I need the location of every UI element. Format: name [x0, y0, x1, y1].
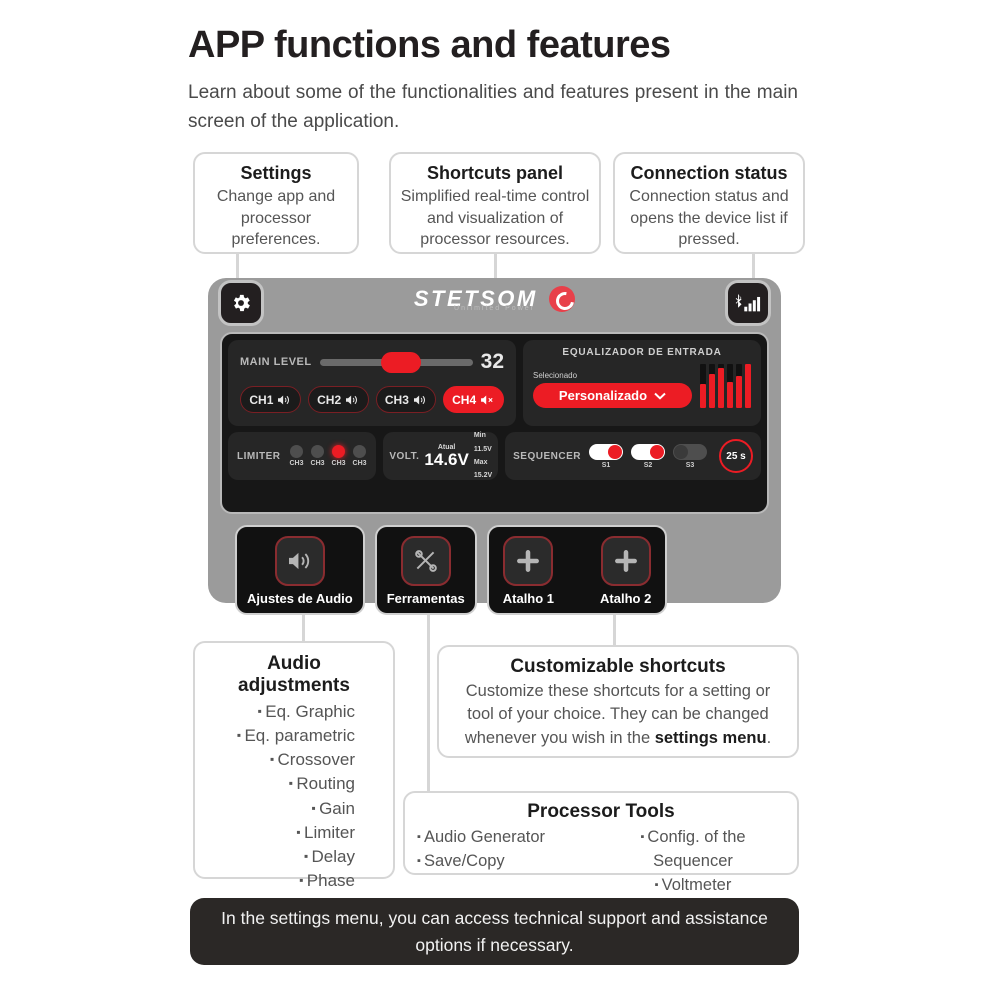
toggle-knob	[674, 445, 688, 459]
bluetooth-signal-icon	[735, 292, 761, 314]
list-item: Limiter	[209, 821, 379, 845]
callout-processor-tools: Processor Tools Audio Generator Save/Cop…	[403, 791, 799, 875]
audio-adjustments-list: Eq. Graphic Eq. parametric Crossover Rou…	[209, 700, 379, 893]
list-item: Routing	[209, 772, 379, 796]
limiter-led-label: CH3	[332, 460, 346, 467]
led-indicator	[353, 445, 366, 458]
sequencer-switch-label: S3	[673, 462, 707, 469]
speaker-icon	[287, 550, 313, 572]
list-item: Eq. Graphic	[209, 700, 379, 724]
callout-shortcuts-title: Shortcuts panel	[397, 163, 593, 184]
limiter-led-label: CH3	[353, 460, 367, 467]
equalizer-preset-dropdown[interactable]: Personalizado	[533, 383, 692, 408]
equalizer-bars	[700, 364, 751, 408]
list-item: Phase	[209, 869, 379, 893]
main-level-value: 32	[481, 350, 504, 374]
callout-custom-title: Customizable shortcuts	[455, 656, 781, 678]
list-item: Voltmeter	[601, 874, 785, 898]
plus-icon-wrap	[601, 536, 651, 586]
callout-audio-adjustments: Audio adjustments Eq. Graphic Eq. parame…	[193, 641, 395, 879]
toggle-switch[interactable]	[631, 444, 665, 460]
channel-label-ch4: CH4	[452, 393, 476, 407]
equalizer-selected-label: Selecionado	[533, 371, 692, 380]
infographic-page: APP functions and features Learn about s…	[0, 0, 1000, 1000]
list-item: Audio Generator	[417, 826, 601, 850]
sequencer-switch-label: S1	[589, 462, 623, 469]
button-ferramentas[interactable]: Ferramentas	[387, 536, 465, 606]
channel-button-ch2[interactable]: CH2	[308, 386, 369, 413]
limiter-tile: LIMITER CH3 CH3 CH3	[228, 432, 376, 480]
channel-button-ch3[interactable]: CH3	[376, 386, 437, 413]
footer-text: In the settings menu, you can access tec…	[218, 905, 771, 958]
callout-settings-title: Settings	[201, 163, 351, 184]
list-item: Delay	[209, 845, 379, 869]
list-item: Save/Copy	[417, 850, 601, 874]
sequencer-timer[interactable]: 25 s	[719, 439, 753, 473]
list-item: Crossover	[209, 748, 379, 772]
callout-shortcuts-body: Simplified real-time control and visuali…	[397, 186, 593, 251]
limiter-led-label: CH3	[311, 460, 325, 467]
toggle-switch[interactable]	[589, 444, 623, 460]
sequencer-tile: SEQUENCER S1 S2 S3 25 s	[505, 432, 761, 480]
custom-body-bold: settings menu	[655, 729, 767, 747]
eq-bar	[727, 364, 733, 408]
button-label: Atalho 1	[503, 591, 554, 606]
list-item: Config. of the Sequencer	[601, 826, 785, 874]
brand-logo: STETSOM	[208, 286, 781, 322]
page-subtitle: Learn about some of the functionalities …	[188, 78, 798, 137]
eq-bar	[700, 364, 706, 408]
eq-bar	[709, 364, 715, 408]
toggle-switch[interactable]	[673, 444, 707, 460]
connector-line-processor-tools	[427, 603, 430, 793]
sequencer-switch-s3[interactable]: S3	[673, 444, 707, 469]
button-label: Atalho 2	[600, 591, 651, 606]
voltage-label: VOLT.	[389, 451, 419, 462]
limiter-led-1: CH3	[290, 445, 304, 467]
input-equalizer-tile: EQUALIZADOR DE ENTRADA Selecionado Perso…	[523, 340, 761, 426]
channel-label-ch2: CH2	[317, 393, 341, 407]
audio-settings-box: Ajustes de Audio	[235, 525, 365, 615]
led-indicator	[311, 445, 324, 458]
callout-settings: Settings Change app and processor prefer…	[193, 152, 359, 254]
channel-label-ch3: CH3	[385, 393, 409, 407]
plus-icon	[613, 548, 639, 574]
callout-connection-title: Connection status	[621, 163, 797, 184]
plus-icon-wrap	[503, 536, 553, 586]
screen-row-bottom: LIMITER CH3 CH3 CH3	[228, 432, 761, 480]
custom-shortcuts-box: Atalho 1 Atalho 2	[487, 525, 668, 615]
equalizer-preset-value: Personalizado	[559, 388, 647, 403]
voltage-current-value: 14.6V	[424, 451, 468, 468]
channel-button-row: CH1 CH2	[240, 386, 504, 413]
callout-tools-title: Processor Tools	[417, 801, 785, 823]
speaker-on-icon	[277, 394, 291, 406]
callout-connection-body: Connection status and opens the device l…	[621, 186, 797, 251]
button-label: Ferramentas	[387, 591, 465, 606]
callout-customizable-shortcuts: Customizable shortcuts Customize these s…	[437, 645, 799, 758]
sequencer-switch-s1[interactable]: S1	[589, 444, 623, 469]
button-atalho-1[interactable]: Atalho 1	[503, 536, 554, 606]
connection-status-button[interactable]	[725, 280, 771, 326]
speaker-mute-icon	[480, 394, 495, 406]
callout-connection-status: Connection status Connection status and …	[613, 152, 805, 254]
speaker-on-icon	[413, 394, 427, 406]
sequencer-label: SEQUENCER	[513, 451, 581, 462]
processor-tools-column-2: Config. of the Sequencer Voltmeter	[601, 826, 785, 898]
button-atalho-2[interactable]: Atalho 2	[600, 536, 651, 606]
button-label: Ajustes de Audio	[247, 591, 353, 606]
custom-body-part2: .	[767, 729, 772, 747]
callout-shortcuts-panel: Shortcuts panel Simplified real-time con…	[389, 152, 601, 254]
voltage-min: Min 11.5V	[474, 429, 492, 456]
main-level-slider-knob[interactable]	[381, 352, 421, 373]
eq-bar	[745, 364, 751, 408]
speaker-on-icon	[345, 394, 359, 406]
limiter-led-label: CH3	[290, 460, 304, 467]
screen-row-top: MAIN LEVEL 32 CH1	[228, 340, 761, 426]
speaker-icon-wrap	[275, 536, 325, 586]
sequencer-switch-s2[interactable]: S2	[631, 444, 665, 469]
channel-button-ch1[interactable]: CH1	[240, 386, 301, 413]
led-indicator	[332, 445, 345, 458]
limiter-led-3: CH3	[332, 445, 346, 467]
tools-icon-wrap	[401, 536, 451, 586]
limiter-led-4: CH3	[353, 445, 367, 467]
connector-line-connection	[752, 254, 755, 280]
list-item: Gain	[209, 797, 379, 821]
voltage-max: Max 15.2V	[474, 456, 492, 483]
main-level-slider[interactable]	[320, 359, 473, 366]
main-level-label: MAIN LEVEL	[240, 356, 312, 368]
main-level-tile: MAIN LEVEL 32 CH1	[228, 340, 516, 426]
callout-custom-body: Customize these shortcuts for a setting …	[455, 680, 781, 750]
page-title: APP functions and features	[188, 24, 671, 67]
channel-label-ch1: CH1	[249, 393, 273, 407]
limiter-label: LIMITER	[237, 451, 281, 462]
voltage-tile: VOLT. Atual 14.6V Min 11.5V Max 15.2V	[383, 432, 498, 480]
brand-tagline: Unlimited Power	[208, 305, 781, 312]
device-header: STETSOM Unlimited Power	[208, 278, 781, 328]
eq-bar	[736, 364, 742, 408]
toggle-knob	[608, 445, 622, 459]
tools-icon	[413, 548, 439, 574]
button-ajustes-de-audio[interactable]: Ajustes de Audio	[247, 536, 353, 606]
list-item: Eq. parametric	[209, 724, 379, 748]
processor-tools-grid: Audio Generator Save/Copy Config. of the…	[417, 826, 785, 898]
callout-audio-title: Audio adjustments	[209, 653, 379, 697]
callout-settings-body: Change app and processor preferences.	[201, 186, 351, 251]
footer-note: In the settings menu, you can access tec…	[190, 898, 799, 965]
chevron-down-icon	[654, 392, 666, 400]
equalizer-title: EQUALIZADOR DE ENTRADA	[533, 347, 751, 358]
toggle-knob	[650, 445, 664, 459]
tools-box: Ferramentas	[375, 525, 477, 615]
sequencer-switch-label: S2	[631, 462, 665, 469]
device-app-panel: STETSOM Unlimited Power MA	[208, 278, 781, 603]
channel-button-ch4[interactable]: CH4	[443, 386, 504, 413]
plus-icon	[515, 548, 541, 574]
device-shortcut-row: Ajustes de Audio Ferramentas	[235, 525, 667, 615]
led-indicator	[290, 445, 303, 458]
app-screen: MAIN LEVEL 32 CH1	[220, 332, 769, 514]
eq-bar	[718, 364, 724, 408]
processor-tools-column-1: Audio Generator Save/Copy	[417, 826, 601, 898]
connector-line-settings	[236, 254, 239, 280]
limiter-led-2: CH3	[311, 445, 325, 467]
